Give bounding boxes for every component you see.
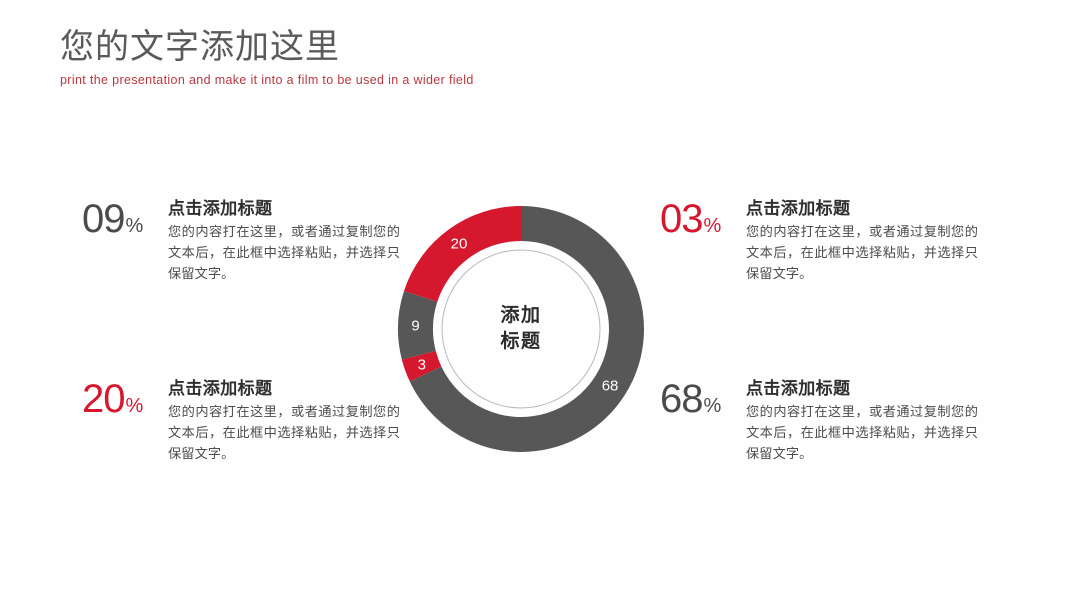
donut-segment-label-20: 20 <box>451 236 468 253</box>
stat-title: 点击添加标题 <box>168 198 400 219</box>
donut-segment-label-68: 68 <box>602 378 619 395</box>
stat-description: 您的内容打在这里，或者通过复制您的文本后，在此框中选择粘贴，并选择只保留文字。 <box>746 401 978 464</box>
stat-description: 您的内容打在这里，或者通过复制您的文本后，在此框中选择粘贴，并选择只保留文字。 <box>168 221 400 284</box>
stat-title: 点击添加标题 <box>746 198 978 219</box>
stat-number-value: 68 <box>660 377 703 421</box>
donut-segment-label-9: 9 <box>411 318 419 335</box>
stat-number-value: 20 <box>82 377 125 421</box>
page-title: 您的文字添加这里 <box>60 26 760 68</box>
stat-body: 点击添加标题 您的内容打在这里，或者通过复制您的文本后，在此框中选择粘贴，并选择… <box>168 378 400 464</box>
stat-description: 您的内容打在这里，或者通过复制您的文本后，在此框中选择粘贴，并选择只保留文字。 <box>168 401 400 464</box>
donut-segment-20[interactable] <box>404 206 521 302</box>
stat-body: 点击添加标题 您的内容打在这里，或者通过复制您的文本后，在此框中选择粘贴，并选择… <box>168 198 400 284</box>
stat-description: 您的内容打在这里，或者通过复制您的文本后，在此框中选择粘贴，并选择只保留文字。 <box>746 221 978 284</box>
stat-number-value: 03 <box>660 197 703 241</box>
percent-sign-icon: % <box>704 395 722 417</box>
stat-block-left-top[interactable]: 09% 点击添加标题 您的内容打在这里，或者通过复制您的文本后，在此框中选择粘贴… <box>82 198 400 284</box>
stat-number-09: 09% <box>82 198 168 247</box>
stat-number-03: 03% <box>660 198 746 247</box>
slide-header: 您的文字添加这里 print the presentation and make… <box>60 26 760 88</box>
percent-sign-icon: % <box>126 395 144 417</box>
donut-chart-svg: 683920 <box>396 204 646 454</box>
percent-sign-icon: % <box>126 215 144 237</box>
page-subtitle: print the presentation and make it into … <box>60 72 760 88</box>
stat-number-68: 68% <box>660 378 746 427</box>
stat-body: 点击添加标题 您的内容打在这里，或者通过复制您的文本后，在此框中选择粘贴，并选择… <box>746 378 978 464</box>
donut-segment-group <box>398 206 644 452</box>
stat-number-20: 20% <box>82 378 168 427</box>
slide-canvas: 您的文字添加这里 print the presentation and make… <box>0 0 1067 600</box>
donut-chart[interactable]: 683920 添加 标题 <box>396 204 646 454</box>
stat-title: 点击添加标题 <box>168 378 400 399</box>
percent-sign-icon: % <box>704 215 722 237</box>
stat-block-right-bottom[interactable]: 68% 点击添加标题 您的内容打在这里，或者通过复制您的文本后，在此框中选择粘贴… <box>660 378 978 464</box>
stat-block-left-bottom[interactable]: 20% 点击添加标题 您的内容打在这里，或者通过复制您的文本后，在此框中选择粘贴… <box>82 378 400 464</box>
stat-number-value: 09 <box>82 197 125 241</box>
stat-body: 点击添加标题 您的内容打在这里，或者通过复制您的文本后，在此框中选择粘贴，并选择… <box>746 198 978 284</box>
stat-block-right-top[interactable]: 03% 点击添加标题 您的内容打在这里，或者通过复制您的文本后，在此框中选择粘贴… <box>660 198 978 284</box>
donut-segment-label-3: 3 <box>418 357 426 374</box>
stat-title: 点击添加标题 <box>746 378 978 399</box>
donut-inner-outline-circle <box>442 250 600 408</box>
